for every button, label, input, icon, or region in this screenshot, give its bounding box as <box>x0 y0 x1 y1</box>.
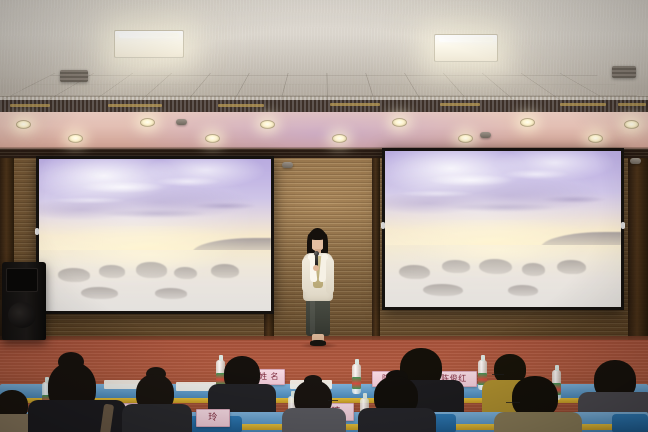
wall-speaker-icon <box>630 158 641 164</box>
name-card-text: 姓 名 <box>259 373 279 381</box>
ceiling-panel-light-left <box>114 30 184 58</box>
audience-chair <box>612 414 648 432</box>
projector-hotspot <box>385 151 621 307</box>
audience-body <box>122 404 192 432</box>
screen-surface-right <box>385 151 621 307</box>
projector-hotspot <box>39 159 271 311</box>
recessed-downlight <box>332 134 347 143</box>
screen-side-tab <box>35 228 39 235</box>
ceiling-vent-left <box>60 70 88 82</box>
recessed-downlight <box>140 118 155 127</box>
soffit-accent-strip <box>560 103 606 106</box>
screen-side-tab <box>381 222 385 229</box>
soffit-accent-strip <box>330 103 380 106</box>
ceiling <box>0 0 648 100</box>
soffit-accent-strip <box>108 104 162 107</box>
presenter-arm-right <box>326 258 334 294</box>
audience-body <box>494 412 582 432</box>
projection-screen-left <box>36 156 274 314</box>
ceiling-shading <box>0 0 648 100</box>
presenter-skirt-highlight <box>310 300 315 334</box>
name-card-text: 玲 <box>208 414 218 423</box>
pilaster-screen-right <box>372 158 380 340</box>
projection-screen-right <box>382 148 624 310</box>
water-bottle <box>352 364 361 394</box>
floor-speaker-cabinet <box>2 262 46 340</box>
presenter <box>294 228 340 346</box>
microphone-head-icon <box>314 251 319 256</box>
recessed-downlight <box>458 134 473 143</box>
eyeglasses-icon <box>492 374 504 377</box>
eyeglasses-icon <box>506 402 520 405</box>
presenter-arm-left <box>302 258 310 292</box>
ceiling-vent-right <box>612 66 636 78</box>
audience-body <box>358 408 436 432</box>
soffit-accent-strip <box>218 104 264 107</box>
name-card: 玲 <box>196 409 230 427</box>
recessed-downlight <box>68 134 83 143</box>
soffit-face <box>0 112 648 149</box>
ceiling-speaker-icon <box>176 119 187 125</box>
audience-body <box>282 408 346 432</box>
recessed-downlight <box>205 134 220 143</box>
soffit-accent-strip <box>440 103 480 106</box>
soffit-accent-strip <box>10 104 50 107</box>
recessed-downlight <box>392 118 407 127</box>
recessed-downlight <box>16 120 31 129</box>
pilaster-right-outer <box>628 158 648 340</box>
recessed-downlight <box>624 120 639 129</box>
screen-surface-left <box>39 159 271 311</box>
soffit-accent-strip <box>618 103 646 106</box>
wall-speaker-icon <box>282 162 293 168</box>
ceiling-panel-light-right <box>434 34 498 62</box>
bottle-label <box>352 377 361 389</box>
projector-light-wash <box>117 112 532 149</box>
presenter-hand <box>313 265 319 271</box>
recessed-downlight <box>588 134 603 143</box>
presenter-shoes <box>310 340 326 346</box>
lecture-hall-photo: 姓 名 陈 凌 陈俊红 红 <box>0 0 648 432</box>
recessed-downlight <box>260 120 275 129</box>
screen-side-tab <box>621 222 625 229</box>
soffit-top-band <box>0 96 648 113</box>
ceiling-speaker-icon <box>480 132 491 138</box>
eyeglasses-icon <box>328 400 338 403</box>
recessed-downlight <box>520 118 535 127</box>
